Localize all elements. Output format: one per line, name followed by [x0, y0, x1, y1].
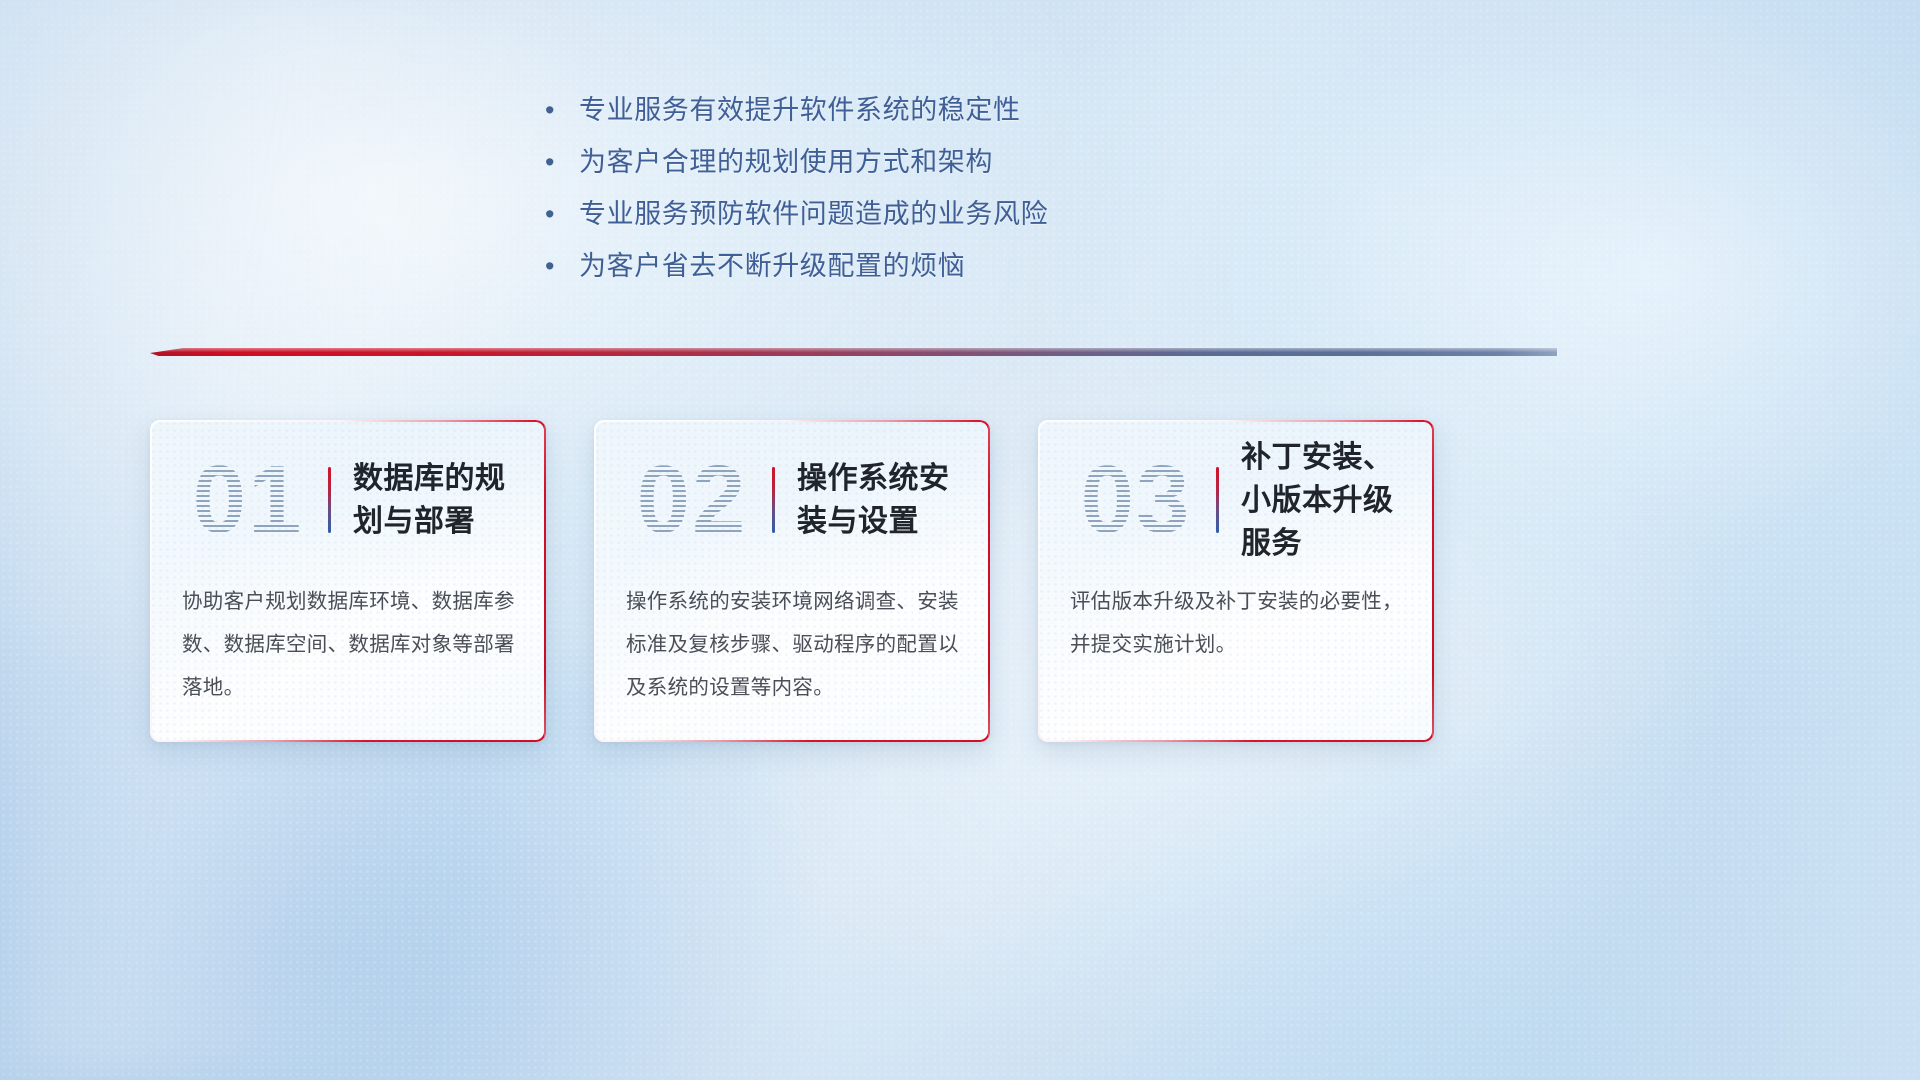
bullet-text: 专业服务有效提升软件系统的稳定性 [579, 88, 1021, 132]
bullet-dot-icon: • [541, 88, 579, 132]
section-divider-sheen [150, 348, 1557, 356]
bullet-dot-icon: • [541, 244, 579, 288]
service-card-list: 01 数据库的规划与部署 协助客户规划数据库环境、数据库参数、数据库空间、数据库… [150, 420, 1770, 742]
card-title: 数据库的规划与部署 [353, 457, 546, 543]
bullet-dot-icon: • [541, 140, 579, 184]
card-title-divider [772, 467, 775, 533]
list-item: • 为客户合理的规划使用方式和架构 [541, 140, 1361, 192]
bullet-text: 为客户省去不断升级配置的烦恼 [579, 244, 965, 288]
slide-root: • 专业服务有效提升软件系统的稳定性 • 为客户合理的规划使用方式和架构 • 专… [0, 0, 1920, 1080]
service-card[interactable]: 02 操作系统安装与设置 操作系统的安装环境网络调查、安装标准及复核步骤、驱动程… [594, 420, 990, 742]
list-item: • 专业服务有效提升软件系统的稳定性 [541, 88, 1361, 140]
card-header: 01 数据库的规划与部署 [150, 440, 546, 560]
service-card[interactable]: 03 补丁安装、小版本升级服务 评估版本升级及补丁安装的必要性，并提交实施计划。 [1038, 420, 1434, 742]
card-title-divider [1216, 467, 1219, 533]
card-header: 03 补丁安装、小版本升级服务 [1038, 440, 1434, 560]
benefits-bullet-list: • 专业服务有效提升软件系统的稳定性 • 为客户合理的规划使用方式和架构 • 专… [541, 88, 1361, 296]
service-card[interactable]: 01 数据库的规划与部署 协助客户规划数据库环境、数据库参数、数据库空间、数据库… [150, 420, 546, 742]
card-body-text: 操作系统的安装环境网络调查、安装标准及复核步骤、驱动程序的配置以及系统的设置等内… [626, 580, 964, 709]
card-index-number: 02 [616, 445, 768, 555]
card-title-divider [328, 467, 331, 533]
card-title: 补丁安装、小版本升级服务 [1241, 436, 1434, 565]
card-body-text: 评估版本升级及补丁安装的必要性，并提交实施计划。 [1070, 580, 1408, 666]
list-item: • 专业服务预防软件问题造成的业务风险 [541, 192, 1361, 244]
section-divider [150, 344, 1557, 362]
card-index-number: 01 [172, 445, 324, 555]
bullet-text: 为客户合理的规划使用方式和架构 [579, 140, 993, 184]
card-index-number: 03 [1060, 445, 1212, 555]
card-header: 02 操作系统安装与设置 [594, 440, 990, 560]
list-item: • 为客户省去不断升级配置的烦恼 [541, 244, 1361, 296]
bullet-dot-icon: • [541, 192, 579, 236]
bullet-text: 专业服务预防软件问题造成的业务风险 [579, 192, 1048, 236]
card-title: 操作系统安装与设置 [797, 457, 990, 543]
card-body-text: 协助客户规划数据库环境、数据库参数、数据库空间、数据库对象等部署落地。 [182, 580, 520, 709]
